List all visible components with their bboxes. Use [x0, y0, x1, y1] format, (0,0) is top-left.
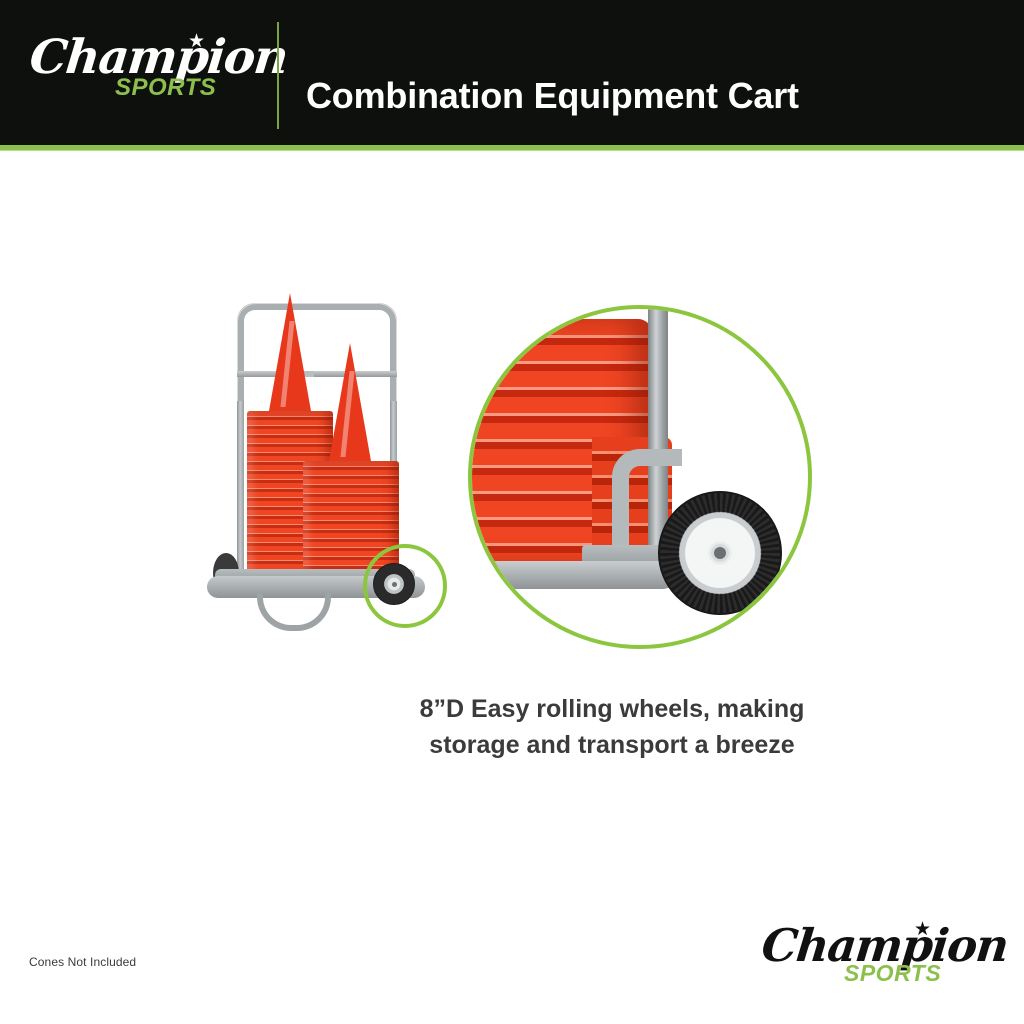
wheel-detail-callout-circle	[468, 305, 812, 649]
cart-crossbar	[237, 371, 397, 377]
cart-handle-frame	[237, 303, 397, 423]
page-title: Combination Equipment Cart	[306, 74, 966, 118]
disclaimer-text: Cones Not Included	[29, 955, 136, 969]
cone-tall-right	[329, 343, 371, 461]
product-marketing-page: Champion ★ SPORTS Combination Equipment …	[0, 0, 1024, 1024]
footer-logo-star-icon: ★	[914, 922, 930, 938]
cone-tall-left	[269, 293, 311, 411]
wheel-highlight-ring	[363, 544, 447, 628]
footer-logo-sports-text: SPORTS	[844, 960, 941, 987]
detail-wheel	[658, 491, 782, 615]
cart-post-left	[237, 401, 244, 586]
header-vertical-divider	[277, 22, 279, 129]
feature-caption: 8”D Easy rolling wheels, making storage …	[362, 691, 862, 763]
logo-sports-text: SPORTS	[115, 74, 216, 102]
feature-caption-line-2: storage and transport a breeze	[362, 727, 862, 763]
logo-star-icon: ★	[188, 34, 204, 50]
champion-sports-logo-footer: Champion ★ SPORTS	[762, 920, 987, 994]
detail-base-platform	[482, 561, 677, 589]
product-stage: 8”D Easy rolling wheels, making storage …	[0, 151, 1024, 1024]
champion-sports-logo-header: Champion ★ SPORTS	[30, 32, 260, 110]
wheel-detail-illustration	[472, 309, 812, 649]
feature-caption-line-1: 8”D Easy rolling wheels, making	[362, 691, 862, 727]
cart-kickstand-loop	[257, 593, 331, 631]
product-photo-cart	[185, 301, 465, 631]
